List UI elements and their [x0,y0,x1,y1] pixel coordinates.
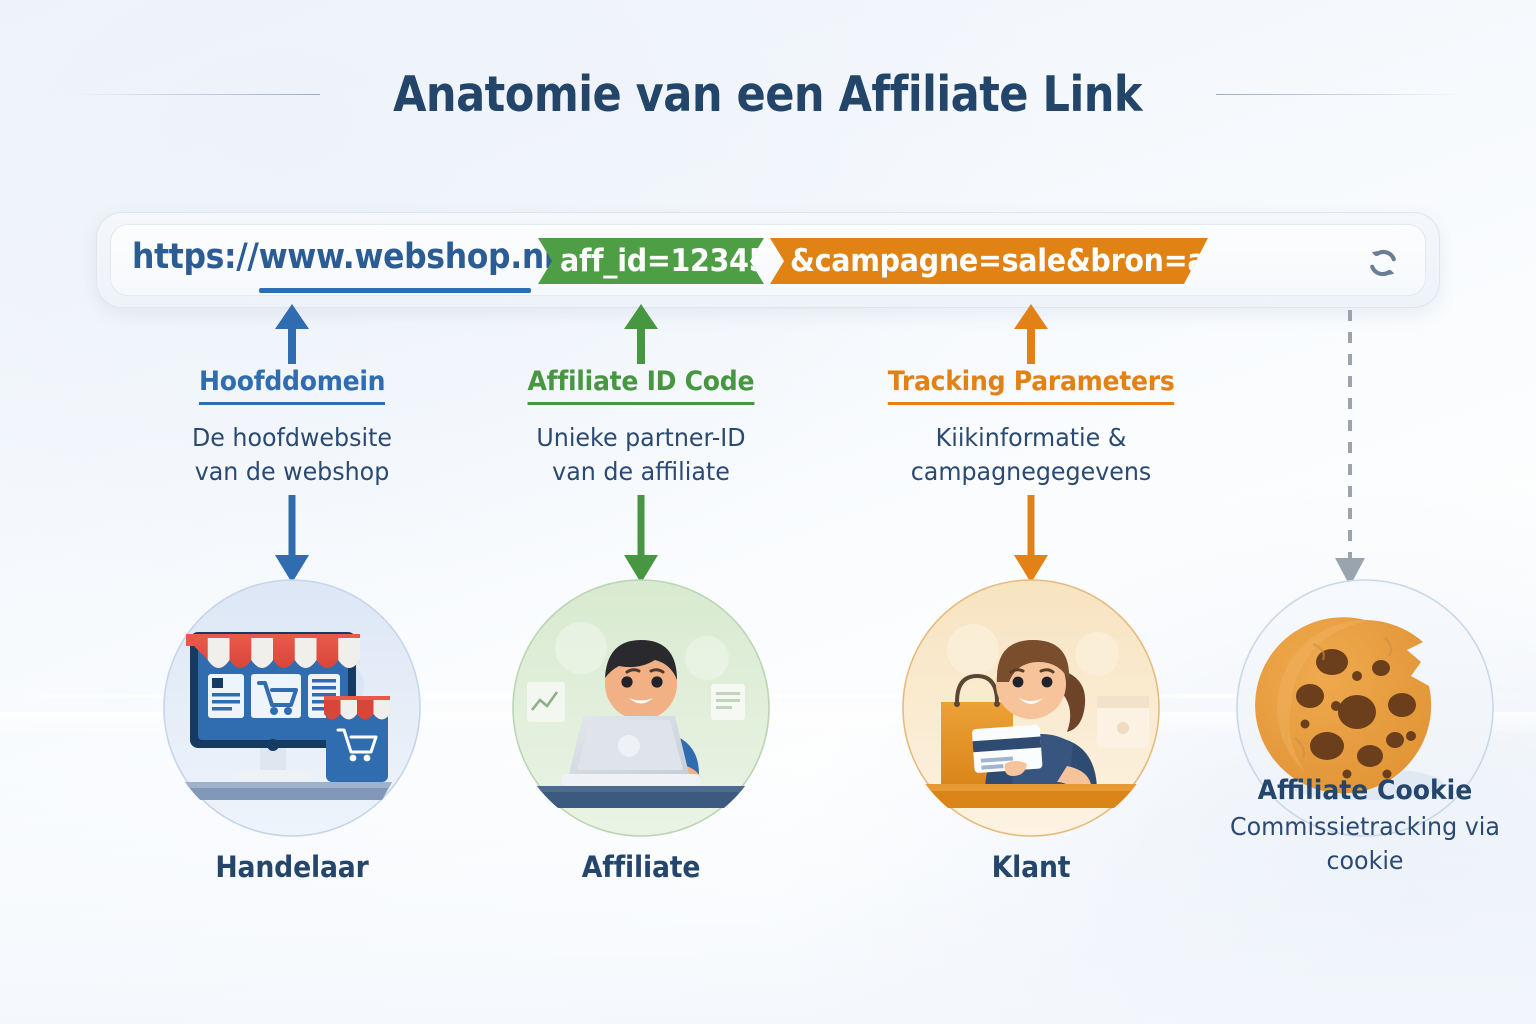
persona-klant-circle [901,578,1161,838]
tracking-params-chip-label: &campagne=sale&bron=ads [790,243,1243,279]
url-domain-underline [259,288,531,293]
label-desc-affiliate: Unieke partner-ID van de affiliate [489,421,793,489]
refresh-icon[interactable] [1364,244,1402,282]
label-desc-affiliate-line1: Unieke partner-ID [489,421,793,455]
label-desc-tracking: Kiikinformatie & campagnegegevens [879,421,1183,489]
title-rule-right [1216,94,1466,95]
persona-affiliate-circle [511,578,771,838]
label-title-domain: Hoofddomein [199,366,385,405]
affiliate-id-chip-label: aff_id=12345 [560,243,768,279]
persona-handelaar: Handelaar [162,578,422,838]
cookie-description: Commissietracking via cookie [1223,810,1508,878]
persona-klant: Klant [901,578,1161,838]
handelaar-illustration [162,578,422,838]
label-group-tracking: Tracking Parameters Kiikinformatie & cam… [871,366,1191,489]
label-desc-tracking-line1: Kiikinformatie & [879,421,1183,455]
page-title-row: Anatomie van een Affiliate Link [0,66,1536,123]
persona-affiliate: Affiliate [511,578,771,838]
label-group-affiliate: Affiliate ID Code Unieke partner-ID van … [481,366,801,489]
label-desc-affiliate-line2: van de affiliate [489,455,793,489]
cookie-description-line2: cookie [1223,844,1508,878]
label-title-affiliate: Affiliate ID Code [528,366,755,405]
cookie-caption: Affiliate Cookie [1226,775,1505,806]
tracking-params-chip[interactable]: &campagne=sale&bron=ads [770,238,1208,284]
url-text-group: https://www.webshop.nl/ [132,224,614,296]
persona-caption-handelaar: Handelaar [145,850,439,884]
dashed-connector-cookie [1325,310,1375,590]
arrow-up-affiliate [617,302,665,364]
klant-illustration [901,578,1161,838]
page-title: Anatomie van een Affiliate Link [394,66,1143,123]
arrow-down-tracking [1007,495,1055,585]
label-group-domain: Hoofddomein De hoofdwebsite van de websh… [132,366,452,489]
arrow-up-tracking [1007,302,1055,364]
persona-caption-klant: Klant [884,850,1178,884]
label-title-tracking: Tracking Parameters [888,366,1175,405]
label-desc-domain-line1: De hoofdwebsite [140,421,444,455]
url-base-domain: https://www.webshop.nl/ [132,237,565,283]
infographic-canvas: Anatomie van een Affiliate Link https://… [0,0,1536,1024]
arrow-down-affiliate [617,495,665,585]
arrow-down-domain [268,495,316,585]
label-desc-tracking-line2: campagnegegevens [879,455,1183,489]
label-desc-domain: De hoofdwebsite van de webshop [140,421,444,489]
cookie-description-line1: Commissietracking via [1223,810,1508,844]
label-desc-domain-line2: van de webshop [140,455,444,489]
arrow-up-domain [268,302,316,364]
persona-caption-affiliate: Affiliate [494,850,788,884]
affiliate-illustration [511,578,771,838]
persona-handelaar-circle [162,578,422,838]
title-rule-left [70,94,320,95]
affiliate-id-chip[interactable]: aff_id=12345 [538,238,764,284]
